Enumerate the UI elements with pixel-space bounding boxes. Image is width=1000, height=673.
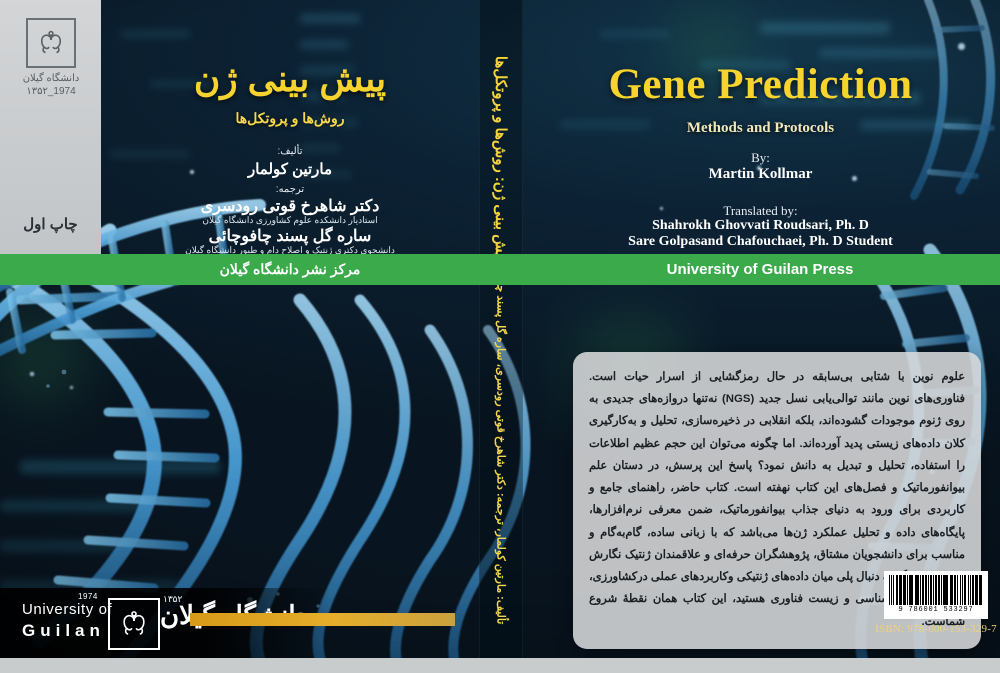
front-translated-label: Translated by:: [521, 203, 1000, 219]
edition-label: چاپ اول: [0, 215, 101, 233]
flap-logo: دانشگاه گیلان ۱۳۵۲_1974: [16, 18, 86, 97]
back-subtitle: روش‌ها و پروتکل‌ها: [101, 110, 479, 127]
logo-year-en: 1974: [78, 592, 98, 601]
decor-glow-dot: [30, 372, 34, 376]
university-emblem-icon: [108, 598, 160, 650]
back-translator-label: ترجمه:: [101, 184, 479, 195]
back-title: پیش بینی ژن: [101, 58, 479, 100]
back-affiliation-1: استادیار دانشکده علوم کشاورزی دانشگاه گی…: [101, 215, 479, 226]
logo-text-en: University of Guilan: [22, 602, 112, 640]
isbn-text: ISBN: 978-600-153-329-7: [872, 623, 1000, 635]
back-translator-2: ساره گل پسند چافوچائی: [101, 226, 479, 246]
decor-codebar: [0, 500, 150, 512]
university-emblem-icon: [26, 18, 76, 68]
barcode-number: 9 786001 533297: [889, 606, 983, 614]
front-by-label: By:: [521, 150, 1000, 166]
flap-university-name: دانشگاه گیلان: [16, 73, 86, 84]
flap-years: ۱۳۵۲_1974: [16, 86, 86, 97]
publisher-fa: مرکز نشر دانشگاه گیلان: [101, 254, 479, 285]
front-title: Gene Prediction: [521, 60, 1000, 109]
front-translator-1: Shahrokh Ghovvati Roudsari, Ph. D: [521, 218, 1000, 234]
logo-line-1: University of: [22, 602, 112, 618]
front-translator-2: Sare Golpasand Chafouchaei, Ph. D Studen…: [521, 234, 1000, 250]
back-author: مارتین کولمار: [101, 160, 479, 178]
barcode-bars: [889, 575, 983, 605]
back-cover-title-block: پیش بینی ژن روش‌ها و پروتکل‌ها تألیف: ما…: [101, 0, 479, 254]
book-cover: دانشگاه گیلان ۱۳۵۲_1974 چاپ اول پیش بینی…: [0, 0, 1000, 673]
spine-title: پیش بینی ژن: روش‌ها و پروتکل‌ها: [492, 56, 510, 262]
front-cover-title-block: Gene Prediction Methods and Protocols By…: [521, 0, 1000, 254]
back-author-label: تألیف:: [101, 146, 479, 157]
spine-authors: تألیف: مارتین کولمار، ترجمه: دکتر شاهرخ …: [495, 249, 508, 625]
decor-codebar: [0, 540, 120, 552]
decor-codebar: [20, 460, 220, 474]
front-author: Martin Kollmar: [521, 166, 1000, 183]
logo-line-2: Guilan: [22, 622, 112, 640]
bottom-edge-strip: [0, 658, 1000, 673]
back-translator-1: دکتر شاهرخ قوتی رودسری: [101, 196, 479, 216]
decor-glow-dot: [70, 386, 73, 389]
front-subtitle: Methods and Protocols: [521, 120, 1000, 137]
gold-accent-bar: [190, 613, 455, 626]
book-spine: پیش بینی ژن: روش‌ها و پروتکل‌ها تألیف: م…: [479, 0, 523, 673]
barcode: 9 786001 533297: [884, 571, 988, 619]
left-flap: دانشگاه گیلان ۱۳۵۲_1974 چاپ اول: [0, 0, 101, 256]
